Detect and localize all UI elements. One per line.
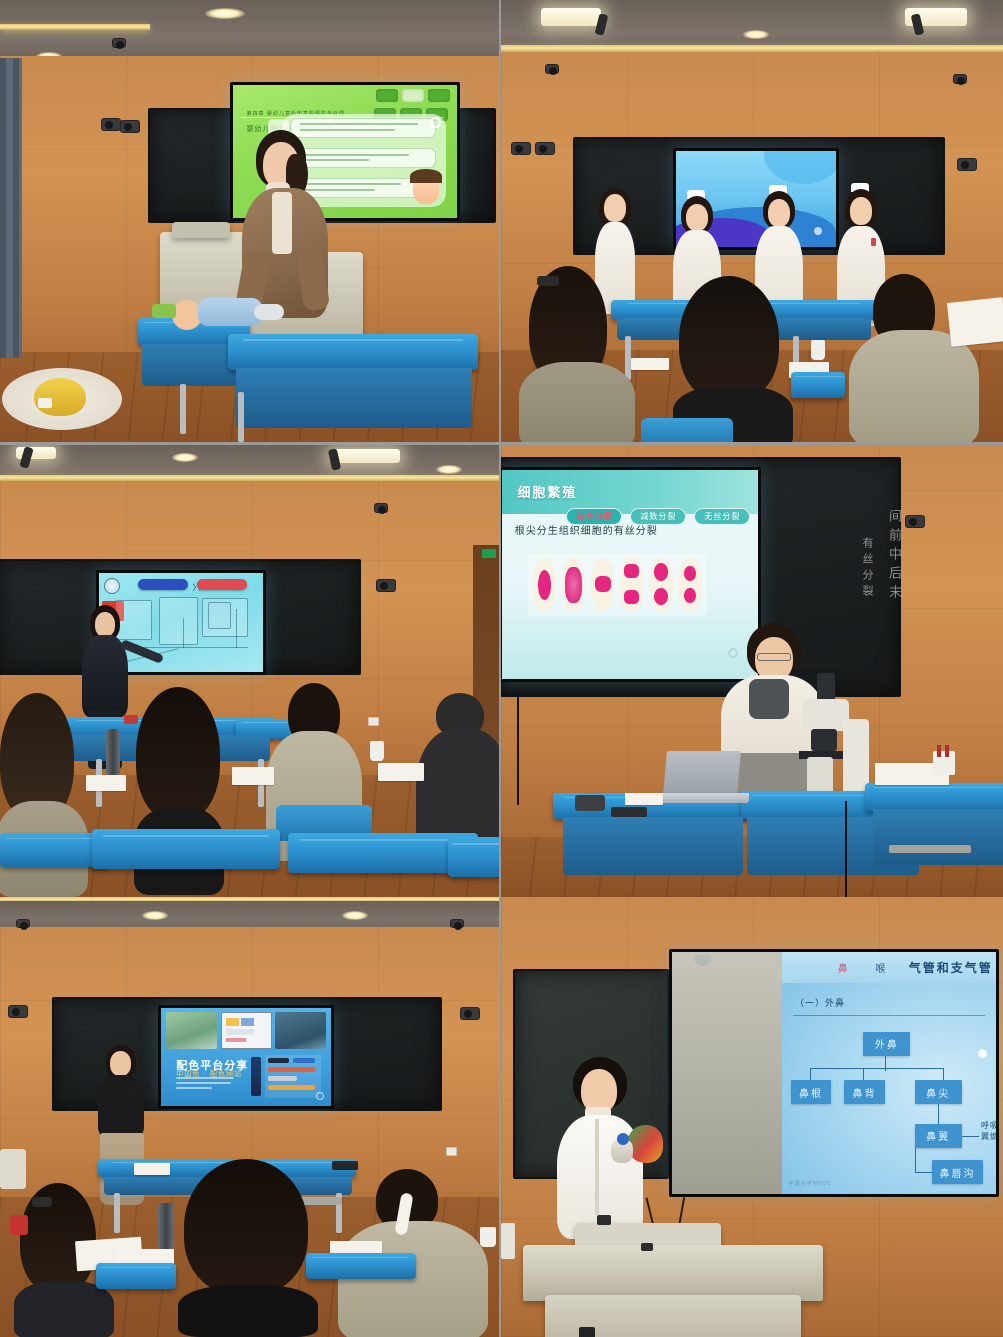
slide-subtitle: 根尖分生组织细胞的有丝分裂 <box>515 522 658 537</box>
podium-panel <box>579 1327 595 1337</box>
diagram-connector <box>915 1148 916 1172</box>
color-swatch <box>268 1085 315 1090</box>
circuit-block <box>208 602 231 628</box>
thermos <box>106 729 120 775</box>
telophase-nucleus-top <box>654 563 668 580</box>
ceiling-camera-icon <box>8 1005 28 1018</box>
anaphase-group-top <box>624 564 639 578</box>
slide-logo-icon <box>104 578 120 594</box>
bag-label <box>38 398 52 408</box>
power-cable <box>517 695 519 805</box>
node-nose-dorsum: 鼻背 <box>844 1080 885 1104</box>
jacket <box>338 1221 488 1337</box>
ceiling <box>0 0 499 62</box>
tab-amitosis[interactable]: 无丝分裂 <box>694 508 750 525</box>
slide-header-bar: 细胞繁殖 有丝分裂 减数分裂 无丝分裂 <box>502 470 758 514</box>
classroom-scene-2 <box>501 0 1003 442</box>
mitosis-stage-6 <box>678 558 702 612</box>
top <box>178 1285 318 1337</box>
slide-color-platform: 配色平台分享 中国色 · 配色网站 <box>161 1008 331 1106</box>
diagram-connector <box>810 1068 943 1069</box>
color-swatch <box>293 1058 315 1063</box>
power-cable <box>845 801 847 897</box>
jacket <box>519 362 635 445</box>
baby-manikin <box>172 296 286 332</box>
wave-top <box>764 148 839 184</box>
slide-swatch-panel <box>265 1055 321 1098</box>
swatch <box>226 1029 253 1035</box>
desk-leg <box>114 1193 120 1233</box>
swatch <box>241 1018 254 1026</box>
ceiling-camera-icon <box>112 38 126 48</box>
diagram-connector <box>943 1068 944 1080</box>
jacket <box>849 330 979 445</box>
text-line <box>176 1087 212 1089</box>
chalk-writing: 间前中后末 <box>884 509 903 604</box>
remote-control[interactable] <box>575 795 605 811</box>
header-throat: 喉 <box>875 960 887 975</box>
ceiling-camera-icon <box>535 142 555 155</box>
curtain <box>0 58 22 358</box>
slide-body-text <box>176 1077 234 1092</box>
side-cabinet <box>501 1223 515 1259</box>
blue-desk-front <box>96 1263 176 1289</box>
slide-chip <box>428 89 450 102</box>
anaphase-group-bottom <box>624 590 639 604</box>
slide-nose-anatomy: 鼻 喉 气管和支气管 （一）外鼻 外鼻 鼻根 鼻背 鼻尖 <box>782 952 996 1194</box>
blue-desk <box>791 372 845 398</box>
badge <box>871 238 876 246</box>
ceiling-camera-icon <box>101 118 121 131</box>
blue-desk-front <box>92 829 280 869</box>
slide-pill-right <box>197 579 246 590</box>
photo-panel-top-left: 第四章 婴幼儿意外伤害的预防与处理 婴幼儿气道异物梗阻急救 <box>0 0 501 445</box>
slide-chip <box>402 89 424 102</box>
anatomical-nose-model <box>611 1125 663 1167</box>
model-body <box>627 1125 663 1163</box>
desk-leg <box>238 392 244 442</box>
mitosis-stage-1 <box>533 558 557 612</box>
daughter-nucleus-top <box>684 566 695 581</box>
downlight <box>205 8 245 19</box>
head <box>110 1051 131 1076</box>
diagram-connector <box>938 1104 939 1123</box>
diagram-connector <box>863 1068 864 1080</box>
head <box>604 194 626 222</box>
slide-marker-dot <box>978 1049 987 1058</box>
slide-section-title: （一）外鼻 <box>795 996 845 1009</box>
daughter-nucleus-bottom <box>684 588 695 603</box>
ceiling-panel-light <box>330 449 400 463</box>
blue-desk-body <box>873 809 1003 865</box>
phone[interactable] <box>611 807 647 817</box>
photo-collage: 第四章 婴幼儿意外伤害的预防与处理 婴幼儿气道异物梗阻急救 <box>0 0 1003 1337</box>
top <box>14 1281 114 1337</box>
bag-body <box>34 378 86 416</box>
chromosome-cluster <box>565 567 582 604</box>
slide-title: 细胞繁殖 <box>517 482 577 501</box>
open-booklet <box>947 297 1003 347</box>
classroom-scene-6: 鼻 喉 气管和支气管 （一）外鼻 外鼻 鼻根 鼻背 鼻尖 <box>501 897 1003 1337</box>
node-nasolabial-groove: 鼻唇沟 <box>932 1160 983 1184</box>
hair-clip <box>32 1197 52 1207</box>
diagram-connector <box>885 1056 886 1071</box>
presentation-screen-6: 鼻 喉 气管和支气管 （一）外鼻 外鼻 鼻根 鼻背 鼻尖 <box>669 949 999 1197</box>
cove-light <box>0 24 150 30</box>
slide-watermark: 中国大学MOOC <box>789 1180 833 1187</box>
yellow-bag <box>34 378 86 416</box>
paper-cup <box>370 741 384 761</box>
node-nose-root: 鼻根 <box>791 1080 832 1104</box>
classroom-scene-4: 间前中后末 有丝分裂 细胞繁殖 有丝分裂 减数分裂 无丝分裂 根尖分生组织细胞的… <box>501 445 1003 897</box>
slide-divider <box>793 1015 985 1016</box>
wall-outlet <box>368 717 379 726</box>
paper <box>625 793 663 805</box>
cove-light <box>501 45 1003 52</box>
audience-member-3 <box>849 274 979 445</box>
slide-photo-right <box>275 1012 326 1049</box>
podium <box>523 1245 823 1301</box>
color-swatch <box>268 1067 315 1072</box>
blue-desk-body <box>563 817 743 875</box>
ceiling-camera-icon <box>450 919 464 928</box>
header-trachea: 气管和支气管 <box>909 959 993 976</box>
diagram-connector <box>810 1068 811 1080</box>
stool <box>889 845 971 853</box>
model-detail <box>617 1133 629 1145</box>
swatch <box>226 1018 239 1026</box>
classroom-scene-3: 〉〉 <box>0 445 499 897</box>
mitosis-stage-2 <box>562 558 586 612</box>
inner-top <box>272 192 292 254</box>
slide-phone-mockup <box>251 1057 261 1096</box>
paper-cup <box>480 1227 496 1247</box>
circuit-wire <box>183 618 184 648</box>
ceiling-camera-icon <box>905 515 925 528</box>
header-nose: 鼻 <box>838 960 850 975</box>
mitosis-stage-4 <box>620 558 644 612</box>
lanyard <box>749 679 789 719</box>
slide-header-bar: 鼻 喉 气管和支气管 <box>782 952 996 983</box>
diagram-annotation: 呼吸困难，鼻翼煽动！！！ <box>981 1121 999 1143</box>
classroom-scene-5: 配色平台分享 中国色 · 配色网站 <box>0 897 499 1337</box>
slide-chip-row <box>376 89 450 102</box>
exit-sign-icon <box>482 549 496 558</box>
notebook <box>232 767 274 785</box>
downlight <box>743 30 769 39</box>
microscope-objectives <box>811 729 837 751</box>
illustration-child-face <box>413 174 439 204</box>
telophase-nucleus-bottom <box>654 588 668 605</box>
slide-circuit-diagram <box>112 597 253 666</box>
ceiling-camera-icon <box>460 1007 480 1020</box>
blue-desk-front <box>448 837 501 877</box>
ceiling-camera-icon <box>511 142 531 155</box>
mitosis-figure <box>528 554 707 617</box>
manikin-legs <box>254 304 284 320</box>
desk-leg <box>180 384 186 434</box>
ceiling-panel-light <box>541 8 601 26</box>
ceiling-camera-icon <box>545 64 559 74</box>
hair-clip <box>537 276 559 286</box>
slide-photo-left <box>166 1012 217 1049</box>
blue-chair <box>641 418 733 445</box>
blue-desk-body <box>236 368 472 428</box>
hair <box>679 276 779 402</box>
microscope <box>789 673 869 801</box>
stain-bottle <box>945 745 949 757</box>
handout <box>631 358 669 370</box>
wall-outlet <box>446 1147 457 1156</box>
downlight <box>436 465 462 474</box>
hair <box>184 1159 308 1295</box>
head <box>768 199 790 227</box>
audience-member-2 <box>178 1159 318 1337</box>
circuit-block <box>159 597 198 646</box>
ceiling-camera-icon <box>16 919 30 928</box>
red-cup <box>10 1215 28 1235</box>
stain-bottle <box>937 745 941 757</box>
notebook <box>86 775 126 791</box>
diagram-arrow <box>962 1136 979 1137</box>
text-line <box>176 1077 234 1079</box>
slide-marker-dot <box>316 1092 324 1100</box>
podium-top <box>172 222 230 238</box>
photo-panel-top-right <box>501 0 1003 445</box>
laptop-lid <box>663 751 741 795</box>
slide-photo-center <box>221 1012 272 1049</box>
chalk-writing: 有丝分裂 <box>859 537 875 601</box>
mitosis-stage-3 <box>591 558 615 612</box>
photo-panel-middle-left: 〉〉 <box>0 445 501 897</box>
slide-chip <box>376 89 398 102</box>
ceiling-camera-icon <box>120 120 140 133</box>
classroom-scene-1: 第四章 婴幼儿意外伤害的预防与处理 婴幼儿气道异物梗阻急救 <box>0 0 499 442</box>
cabinet <box>0 1149 26 1189</box>
audience-member-1 <box>519 266 629 445</box>
ceiling-camera-icon <box>957 158 977 171</box>
photo-panel-middle-right: 间前中后末 有丝分裂 细胞繁殖 有丝分裂 减数分裂 无丝分裂 根尖分生组织细胞的… <box>501 445 1003 897</box>
slide-pill-left <box>138 579 187 590</box>
microphone[interactable] <box>597 1215 611 1225</box>
paper-cup <box>811 340 825 360</box>
small-toy <box>152 304 176 318</box>
node-nose-apex: 鼻尖 <box>915 1080 962 1104</box>
text-line <box>176 1082 230 1084</box>
downlight <box>142 911 168 920</box>
node-nose-ala: 鼻翼 <box>915 1124 962 1148</box>
blue-desk-front <box>306 1253 416 1279</box>
mitosis-stage-5 <box>649 558 673 612</box>
photo-panel-bottom-left: 配色平台分享 中国色 · 配色网站 <box>0 897 501 1337</box>
presentation-screen-5: 配色平台分享 中国色 · 配色网站 <box>158 1005 334 1109</box>
glasses-icon <box>757 653 791 661</box>
metaphase-plate <box>595 576 611 592</box>
head <box>850 197 872 225</box>
microphone[interactable] <box>641 1243 653 1251</box>
slide-row-line <box>300 123 418 125</box>
color-swatch <box>268 1076 297 1081</box>
ceiling-camera-icon <box>376 579 396 592</box>
swatch <box>226 1038 246 1043</box>
thermos <box>158 1203 174 1249</box>
ceiling-camera-icon <box>374 503 388 513</box>
downlight <box>342 911 368 920</box>
blue-desk <box>228 334 478 370</box>
head <box>686 204 708 231</box>
blue-desk <box>865 783 1003 811</box>
color-swatch <box>268 1058 289 1063</box>
paper <box>134 1163 170 1175</box>
chromatin-mass <box>538 570 551 600</box>
screen-glare <box>672 952 782 1194</box>
head <box>95 612 115 637</box>
manikin-body <box>198 298 262 326</box>
photo-panel-bottom-right: 鼻 喉 气管和支气管 （一）外鼻 外鼻 鼻根 鼻背 鼻尖 <box>501 897 1003 1337</box>
hair <box>136 687 220 821</box>
circuit-wire <box>236 609 237 648</box>
ceiling-camera-icon <box>953 74 967 84</box>
notebook <box>378 763 424 781</box>
laptop-base[interactable] <box>653 793 749 803</box>
downlight <box>172 453 198 462</box>
node-outer-nose: 外鼻 <box>863 1032 910 1056</box>
coat-seam <box>595 1119 599 1215</box>
